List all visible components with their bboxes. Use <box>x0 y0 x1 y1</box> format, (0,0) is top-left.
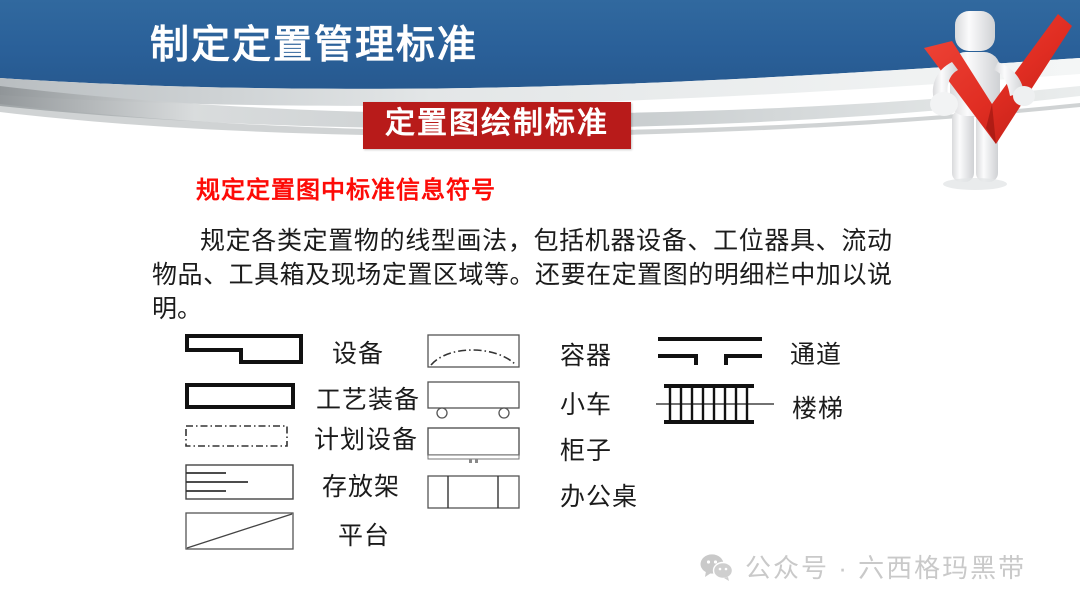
banner-title: 定置图绘制标准 <box>363 102 631 149</box>
legend-item: 平台 <box>184 510 390 557</box>
legend-item-label: 计划设备 <box>314 420 418 456</box>
diagonal-rectangle-icon <box>184 510 296 557</box>
legend-item: 存放架 <box>184 462 400 507</box>
dash-dot-rectangle-icon <box>184 422 290 455</box>
legend-item-label: 设备 <box>332 334 384 370</box>
slide-canvas: 制定定置管理标准 <box>0 0 1080 608</box>
legend-item-label: 柜子 <box>560 431 612 467</box>
legend-item: 办公桌 <box>426 473 638 516</box>
legend-item: 容器 <box>426 332 612 375</box>
section-subheading: 规定定置图中标准信息符号 <box>196 170 496 205</box>
legend-item: 设备 <box>184 332 384 371</box>
legend-item: 计划设备 <box>184 420 418 456</box>
legend-item-label: 平台 <box>338 516 390 552</box>
stairs-ladder-icon <box>656 380 780 433</box>
page-title: 制定定置管理标准 <box>150 14 790 70</box>
symbol-legend: 设备 工艺装备 计划设备 <box>176 330 876 560</box>
wechat-icon <box>700 553 734 581</box>
cabinet-icon <box>426 426 522 471</box>
legend-item-label: 楼梯 <box>792 389 844 425</box>
legend-item: 柜子 <box>426 426 612 471</box>
legend-item-label: 存放架 <box>322 467 400 503</box>
legend-item-label: 工艺装备 <box>316 380 420 416</box>
legend-item: 小车 <box>426 380 612 425</box>
shelf-rectangle-icon <box>184 462 296 507</box>
legend-item-label: 通道 <box>790 335 842 371</box>
container-arc-icon <box>426 332 522 375</box>
legend-item: 通道 <box>656 334 842 371</box>
body-paragraph: 规定各类定置物的线型画法，包括机器设备、工位器具、流动物品、工具箱及现场定置区域… <box>152 225 892 327</box>
legend-item: 工艺装备 <box>184 380 420 416</box>
mascot-svg <box>900 0 1080 200</box>
passage-brackets-icon <box>656 334 768 371</box>
legend-item: 楼梯 <box>656 380 844 433</box>
thick-rectangle-icon <box>184 381 296 416</box>
cart-wheels-icon <box>426 380 522 425</box>
legend-item-label: 小车 <box>560 385 612 421</box>
footer-watermark: 公众号 · 六西格玛黑带 <box>700 548 1026 585</box>
mannequin-with-checkmark-illustration <box>900 0 1080 205</box>
notched-rectangle-icon <box>184 332 304 371</box>
legend-item-label: 容器 <box>560 336 612 372</box>
footer-text: 公众号 · 六西格玛黑带 <box>745 548 1026 585</box>
legend-item-label: 办公桌 <box>560 477 638 513</box>
desk-divided-icon <box>426 473 522 516</box>
